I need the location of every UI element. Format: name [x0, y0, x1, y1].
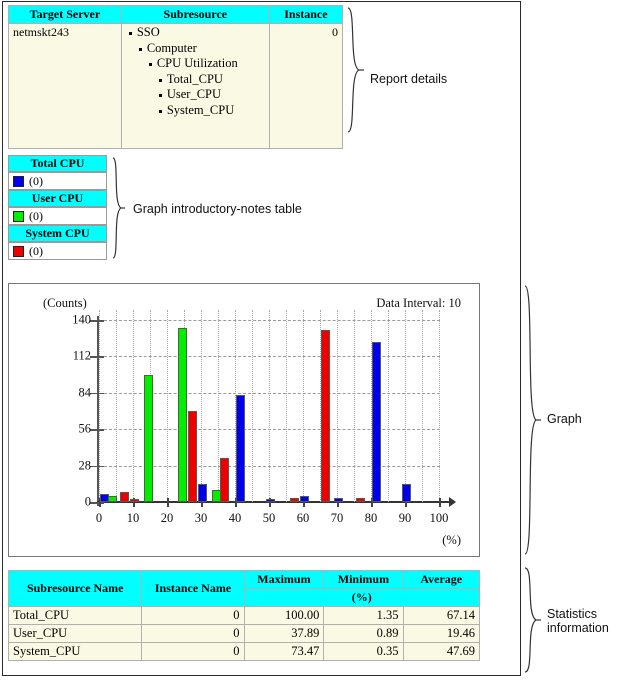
chart-bar — [300, 496, 309, 503]
y-axis-tick-label: 84 — [79, 385, 92, 400]
stats-max-total-cpu: 100.00 — [244, 607, 324, 625]
chart-bar — [130, 499, 139, 502]
chart-gridline-vertical — [422, 310, 423, 502]
table-row: User_CPU 0 37.89 0.89 19.46 — [9, 625, 480, 643]
chart-gridline-vertical — [354, 310, 355, 502]
target-server-value: netmskt243 — [9, 24, 122, 149]
chart-bar — [321, 330, 330, 502]
chart-gridline-vertical — [218, 310, 219, 502]
y-axis-tick — [90, 320, 104, 322]
x-axis-tick-label: 40 — [229, 511, 242, 526]
chart-gridline-vertical — [99, 310, 100, 502]
legend-value-system-cpu: (0) — [29, 243, 43, 259]
x-axis-tick-label: 10 — [127, 511, 140, 526]
brace-intro-notes — [110, 156, 126, 260]
stats-name-total-cpu: Total_CPU — [9, 607, 142, 625]
chart-gridline-vertical — [201, 310, 202, 502]
chart-bar — [290, 498, 299, 502]
table-header-row: Subresource Name Instance Name Maximum M… — [9, 571, 480, 589]
tree-item-sso: SSO — [126, 25, 265, 41]
legend-value-user-cpu: (0) — [29, 208, 43, 224]
table-row: Total_CPU 0 100.00 1.35 67.14 — [9, 607, 480, 625]
y-axis-tick — [90, 429, 104, 431]
chart-bar — [402, 484, 411, 502]
chart-bar — [334, 498, 343, 502]
instance-value: 0 — [269, 24, 342, 149]
chart-bar — [266, 499, 275, 502]
y-axis-tick-label: 56 — [79, 422, 92, 437]
chart-gridline-vertical — [133, 310, 134, 502]
tree-item-system-cpu: System_CPU — [156, 103, 265, 119]
chart-bar — [198, 484, 207, 502]
column-header-subresource-name: Subresource Name — [9, 571, 142, 607]
brace-graph — [522, 284, 542, 556]
chart-gridline-vertical — [286, 310, 287, 502]
y-axis-tick — [90, 466, 104, 468]
x-axis-tick-label: 50 — [263, 511, 276, 526]
subresource-tree: SSO Computer CPU Utilization Total_CPU U… — [122, 25, 265, 118]
y-axis-tick-label: 112 — [73, 349, 91, 364]
legend-swatch-icon-system-cpu — [13, 246, 24, 257]
chart-bar — [356, 498, 365, 502]
stats-avg-system-cpu: 47.69 — [403, 643, 479, 661]
stats-instance-total-cpu: 0 — [142, 607, 244, 625]
chart-bar — [220, 458, 229, 502]
stats-max-user-cpu: 37.89 — [244, 625, 324, 643]
annotation-statistics-line1: Statistics — [547, 607, 609, 621]
chart-gridline-horizontal — [99, 320, 440, 321]
stats-instance-user-cpu: 0 — [142, 625, 244, 643]
chart-gridline-vertical — [269, 310, 270, 502]
table-header-row: Target Server Subresource Instance — [9, 6, 343, 24]
report-page: Target Server Subresource Instance netms… — [0, 0, 624, 680]
annotation-graph: Graph — [547, 412, 582, 426]
legend-title-system-cpu: System CPU — [8, 225, 107, 242]
stats-min-total-cpu: 1.35 — [324, 607, 403, 625]
brace-report-details — [345, 6, 365, 134]
y-axis-tick — [90, 502, 104, 504]
stats-min-system-cpu: 0.35 — [324, 643, 403, 661]
stats-avg-user-cpu: 19.46 — [403, 625, 479, 643]
x-axis-tick-label: 100 — [430, 511, 449, 526]
x-axis-tick-label: 80 — [365, 511, 378, 526]
legend-swatch-icon-total-cpu — [13, 176, 24, 187]
x-axis-tick — [439, 498, 441, 507]
legend-swatch-icon-user-cpu — [13, 211, 24, 222]
x-axis-tick-label: 30 — [195, 511, 208, 526]
legend-title-total-cpu: Total CPU — [8, 155, 107, 172]
y-axis-title: (Counts) — [43, 296, 87, 311]
chart-bar — [188, 411, 197, 502]
stats-min-user-cpu: 0.89 — [324, 625, 403, 643]
column-header-minimum: Minimum — [324, 571, 403, 589]
chart-bar — [236, 395, 245, 502]
legend-row-total-cpu: (0) — [8, 172, 107, 190]
y-axis-tick-label: 28 — [79, 458, 92, 473]
chart-bar — [144, 375, 153, 502]
column-header-average: Average — [403, 571, 479, 589]
y-axis-tick-label: 140 — [72, 313, 91, 328]
column-header-maximum: Maximum — [244, 571, 324, 589]
column-header-subresource: Subresource — [121, 6, 269, 24]
annotation-intro-notes: Graph introductory-notes table — [133, 202, 302, 216]
tree-item-user-cpu: User_CPU — [156, 87, 265, 103]
x-axis-tick-label: 90 — [399, 511, 412, 526]
stats-name-system-cpu: System_CPU — [9, 643, 142, 661]
x-axis-tick-label: 0 — [96, 511, 102, 526]
tree-item-computer: Computer — [136, 41, 265, 57]
chart-gridline-vertical — [405, 310, 406, 502]
table-row: netmskt243 SSO Computer CPU Utilization … — [9, 24, 343, 149]
chart-bar — [178, 328, 187, 502]
chart-gridline-vertical — [337, 310, 338, 502]
chart-gridline-vertical — [252, 310, 253, 502]
column-header-instance: Instance — [269, 6, 342, 24]
annotation-statistics: Statistics information — [547, 607, 609, 635]
chart-bar — [372, 342, 381, 502]
annotation-statistics-line2: information — [547, 621, 609, 635]
chart-gridline-horizontal — [99, 356, 440, 357]
y-axis-tick — [90, 356, 104, 358]
x-axis-tick — [167, 498, 169, 507]
stats-instance-system-cpu: 0 — [142, 643, 244, 661]
table-row: System_CPU 0 73.47 0.35 47.69 — [9, 643, 480, 661]
brace-statistics — [522, 566, 542, 674]
column-header-instance-name: Instance Name — [142, 571, 244, 607]
chart-gridline-vertical — [167, 310, 168, 502]
x-axis-arrow-icon — [449, 497, 456, 507]
tree-item-cpu-utilization: CPU Utilization — [146, 56, 265, 72]
column-header-unit-percent: (%) — [244, 589, 479, 607]
chart-gridline-vertical — [388, 310, 389, 502]
legend-row-system-cpu: (0) — [8, 242, 107, 260]
statistics-table: Subresource Name Instance Name Maximum M… — [8, 570, 480, 661]
graph-intro-notes-table: Total CPU (0) User CPU (0) System CPU (0… — [8, 155, 107, 260]
legend-row-user-cpu: (0) — [8, 207, 107, 225]
x-axis-title: (%) — [442, 533, 461, 548]
report-details-table: Target Server Subresource Instance netms… — [8, 5, 343, 149]
chart-gridline-vertical — [439, 310, 440, 502]
x-axis-tick-label: 20 — [161, 511, 174, 526]
chart-bar — [108, 496, 117, 503]
data-interval-label: Data Interval: 10 — [376, 296, 461, 311]
stats-avg-total-cpu: 67.14 — [403, 607, 479, 625]
stats-name-user-cpu: User_CPU — [9, 625, 142, 643]
y-axis-tick-label: 0 — [85, 495, 91, 510]
stats-max-system-cpu: 73.47 — [244, 643, 324, 661]
graph-panel: (Counts) Data Interval: 10 (%) 028568411… — [8, 283, 480, 557]
legend-value-total-cpu: (0) — [29, 173, 43, 189]
annotation-report-details: Report details — [370, 72, 447, 86]
legend-title-user-cpu: User CPU — [8, 190, 107, 207]
chart-bar — [120, 492, 129, 502]
tree-item-total-cpu: Total_CPU — [156, 72, 265, 88]
subresource-tree-cell: SSO Computer CPU Utilization Total_CPU U… — [121, 24, 269, 149]
chart-gridline-vertical — [303, 310, 304, 502]
bar-chart-plot-area: 02856841121400102030405060708090100 — [99, 320, 439, 502]
column-header-target-server: Target Server — [9, 6, 122, 24]
chart-gridline-vertical — [116, 310, 117, 502]
y-axis-tick — [90, 393, 104, 395]
x-axis-tick-label: 60 — [297, 511, 310, 526]
x-axis-tick-label: 70 — [331, 511, 344, 526]
